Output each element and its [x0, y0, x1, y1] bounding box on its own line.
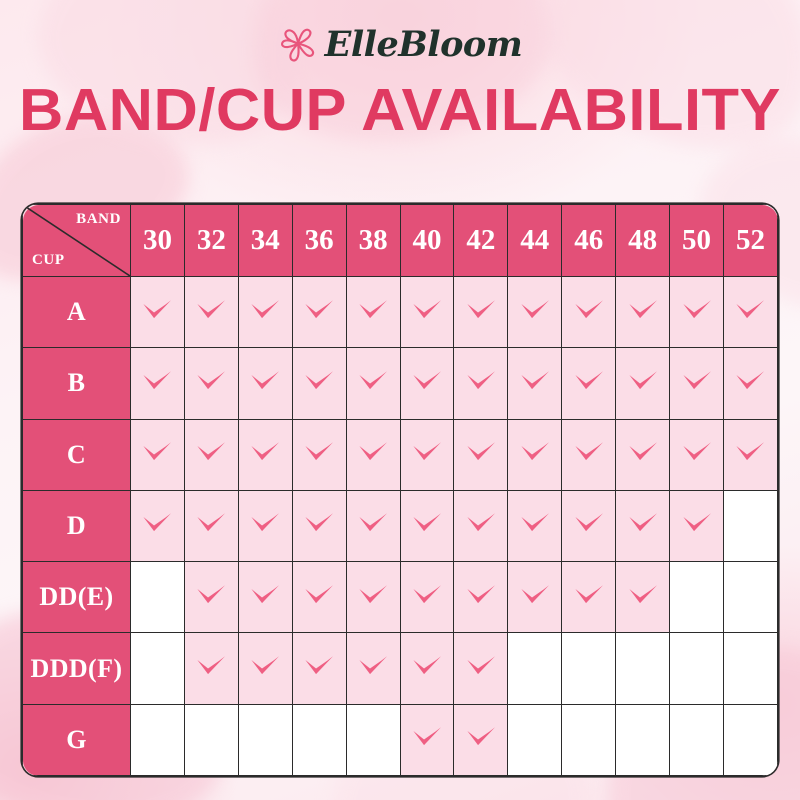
band-size-header-38: 38	[346, 205, 400, 277]
check-icon	[248, 578, 282, 612]
header-row: BAND CUP 303234363840424446485052	[23, 205, 778, 277]
availability-cell-A-42[interactable]	[454, 277, 508, 348]
availability-cell-C-52[interactable]	[723, 419, 777, 490]
check-icon	[680, 364, 714, 398]
availability-cell-D-36[interactable]	[292, 490, 346, 561]
flower-icon	[278, 24, 318, 64]
band-size-header-48: 48	[616, 205, 670, 277]
check-icon	[356, 364, 390, 398]
availability-cell-B-30[interactable]	[131, 348, 185, 419]
check-icon	[518, 435, 552, 469]
availability-table-container: BAND CUP 303234363840424446485052 ABCDDD…	[22, 204, 778, 776]
availability-cell-D-40[interactable]	[400, 490, 454, 561]
availability-cell-B-48[interactable]	[616, 348, 670, 419]
check-icon	[302, 649, 336, 683]
check-icon	[248, 364, 282, 398]
check-icon	[518, 578, 552, 612]
check-icon	[572, 578, 606, 612]
availability-cell-DD(E)-46[interactable]	[562, 562, 616, 633]
check-icon	[194, 293, 228, 327]
availability-cell-DDD(F)-34[interactable]	[238, 633, 292, 704]
availability-cell-A-34[interactable]	[238, 277, 292, 348]
availability-cell-G-30[interactable]	[131, 704, 185, 775]
check-icon	[680, 435, 714, 469]
check-icon	[140, 435, 174, 469]
availability-cell-DDD(F)-38[interactable]	[346, 633, 400, 704]
availability-cell-G-38[interactable]	[346, 704, 400, 775]
check-icon	[680, 506, 714, 540]
availability-cell-D-42[interactable]	[454, 490, 508, 561]
check-icon	[140, 364, 174, 398]
availability-cell-D-52[interactable]	[723, 490, 777, 561]
check-icon	[248, 506, 282, 540]
table-header: BAND CUP 303234363840424446485052	[23, 205, 778, 277]
availability-cell-A-50[interactable]	[670, 277, 724, 348]
availability-cell-DDD(F)-36[interactable]	[292, 633, 346, 704]
check-icon	[302, 364, 336, 398]
band-size-header-42: 42	[454, 205, 508, 277]
availability-cell-B-42[interactable]	[454, 348, 508, 419]
availability-cell-DDD(F)-46[interactable]	[562, 633, 616, 704]
availability-cell-DD(E)-40[interactable]	[400, 562, 454, 633]
availability-cell-B-34[interactable]	[238, 348, 292, 419]
page-root: ElleBloom BAND/CUP AVAILABILITY BAND CUP…	[0, 0, 800, 800]
check-icon	[572, 506, 606, 540]
check-icon	[733, 364, 767, 398]
check-icon	[356, 506, 390, 540]
availability-cell-DDD(F)-52[interactable]	[723, 633, 777, 704]
availability-cell-DD(E)-42[interactable]	[454, 562, 508, 633]
check-icon	[248, 649, 282, 683]
brand-logo: ElleBloom	[0, 0, 800, 58]
check-icon	[302, 293, 336, 327]
table-row: A	[23, 277, 778, 348]
availability-cell-C-40[interactable]	[400, 419, 454, 490]
availability-cell-A-32[interactable]	[184, 277, 238, 348]
corner-band-label: BAND	[76, 211, 121, 228]
check-icon	[572, 364, 606, 398]
availability-cell-A-40[interactable]	[400, 277, 454, 348]
availability-cell-B-36[interactable]	[292, 348, 346, 419]
availability-cell-G-50[interactable]	[670, 704, 724, 775]
availability-cell-DDD(F)-32[interactable]	[184, 633, 238, 704]
check-icon	[518, 506, 552, 540]
availability-cell-DDD(F)-30[interactable]	[131, 633, 185, 704]
check-icon	[680, 293, 714, 327]
table-row: C	[23, 419, 778, 490]
table-row: G	[23, 704, 778, 775]
availability-cell-DD(E)-32[interactable]	[184, 562, 238, 633]
check-icon	[518, 364, 552, 398]
check-icon	[194, 364, 228, 398]
cup-size-header-A: A	[23, 277, 131, 348]
check-icon	[302, 435, 336, 469]
availability-cell-B-32[interactable]	[184, 348, 238, 419]
check-icon	[356, 649, 390, 683]
check-icon	[464, 720, 498, 754]
check-icon	[248, 435, 282, 469]
availability-cell-C-42[interactable]	[454, 419, 508, 490]
check-icon	[410, 578, 444, 612]
availability-cell-A-44[interactable]	[508, 277, 562, 348]
availability-cell-B-40[interactable]	[400, 348, 454, 419]
availability-cell-A-30[interactable]	[131, 277, 185, 348]
cup-size-header-G: G	[23, 704, 131, 775]
check-icon	[464, 364, 498, 398]
availability-cell-D-32[interactable]	[184, 490, 238, 561]
availability-cell-C-48[interactable]	[616, 419, 670, 490]
corner-header-cell: BAND CUP	[23, 205, 131, 277]
availability-cell-B-44[interactable]	[508, 348, 562, 419]
check-icon	[194, 435, 228, 469]
band-size-header-40: 40	[400, 205, 454, 277]
availability-cell-G-52[interactable]	[723, 704, 777, 775]
availability-cell-DD(E)-52[interactable]	[723, 562, 777, 633]
availability-cell-B-38[interactable]	[346, 348, 400, 419]
check-icon	[626, 506, 660, 540]
check-icon	[464, 293, 498, 327]
check-icon	[302, 506, 336, 540]
availability-cell-DDD(F)-48[interactable]	[616, 633, 670, 704]
availability-cell-DD(E)-44[interactable]	[508, 562, 562, 633]
availability-cell-C-30[interactable]	[131, 419, 185, 490]
availability-cell-G-46[interactable]	[562, 704, 616, 775]
check-icon	[626, 435, 660, 469]
availability-cell-DD(E)-30[interactable]	[131, 562, 185, 633]
check-icon	[410, 720, 444, 754]
availability-cell-D-30[interactable]	[131, 490, 185, 561]
availability-cell-C-32[interactable]	[184, 419, 238, 490]
band-size-header-30: 30	[131, 205, 185, 277]
band-size-header-44: 44	[508, 205, 562, 277]
page-title: BAND/CUP AVAILABILITY	[0, 81, 800, 140]
check-icon	[572, 293, 606, 327]
check-icon	[410, 649, 444, 683]
availability-cell-DD(E)-48[interactable]	[616, 562, 670, 633]
table-body: ABCDDD(E)DDD(F)G	[23, 277, 778, 776]
table-row: B	[23, 348, 778, 419]
check-icon	[464, 435, 498, 469]
availability-cell-C-38[interactable]	[346, 419, 400, 490]
check-icon	[140, 506, 174, 540]
band-size-header-52: 52	[723, 205, 777, 277]
check-icon	[410, 506, 444, 540]
availability-cell-A-48[interactable]	[616, 277, 670, 348]
availability-cell-D-44[interactable]	[508, 490, 562, 561]
check-icon	[356, 578, 390, 612]
check-icon	[733, 293, 767, 327]
availability-cell-G-32[interactable]	[184, 704, 238, 775]
check-icon	[733, 435, 767, 469]
availability-cell-DDD(F)-42[interactable]	[454, 633, 508, 704]
availability-cell-A-38[interactable]	[346, 277, 400, 348]
availability-table: BAND CUP 303234363840424446485052 ABCDDD…	[22, 204, 778, 776]
check-icon	[410, 293, 444, 327]
availability-cell-D-46[interactable]	[562, 490, 616, 561]
check-icon	[626, 293, 660, 327]
availability-cell-DD(E)-50[interactable]	[670, 562, 724, 633]
table-row: DD(E)	[23, 562, 778, 633]
brand-name: ElleBloom	[325, 27, 523, 62]
availability-cell-B-52[interactable]	[723, 348, 777, 419]
corner-cup-label: CUP	[32, 252, 65, 269]
check-icon	[356, 435, 390, 469]
check-icon	[302, 578, 336, 612]
availability-cell-D-34[interactable]	[238, 490, 292, 561]
check-icon	[518, 293, 552, 327]
availability-cell-B-46[interactable]	[562, 348, 616, 419]
check-icon	[464, 578, 498, 612]
availability-cell-DD(E)-34[interactable]	[238, 562, 292, 633]
availability-cell-C-34[interactable]	[238, 419, 292, 490]
check-icon	[194, 578, 228, 612]
availability-cell-C-36[interactable]	[292, 419, 346, 490]
availability-cell-A-36[interactable]	[292, 277, 346, 348]
cup-size-header-DDD(F): DDD(F)	[23, 633, 131, 704]
band-size-header-50: 50	[670, 205, 724, 277]
cup-size-header-B: B	[23, 348, 131, 419]
availability-cell-DD(E)-36[interactable]	[292, 562, 346, 633]
table-row: DDD(F)	[23, 633, 778, 704]
availability-cell-A-52[interactable]	[723, 277, 777, 348]
check-icon	[464, 649, 498, 683]
availability-cell-A-46[interactable]	[562, 277, 616, 348]
band-size-header-32: 32	[184, 205, 238, 277]
availability-cell-G-36[interactable]	[292, 704, 346, 775]
check-icon	[464, 506, 498, 540]
availability-cell-D-38[interactable]	[346, 490, 400, 561]
availability-cell-G-44[interactable]	[508, 704, 562, 775]
cup-size-header-DD(E): DD(E)	[23, 562, 131, 633]
check-icon	[410, 364, 444, 398]
band-size-header-36: 36	[292, 205, 346, 277]
check-icon	[626, 578, 660, 612]
table-row: D	[23, 490, 778, 561]
check-icon	[248, 293, 282, 327]
check-icon	[410, 435, 444, 469]
availability-cell-DDD(F)-40[interactable]	[400, 633, 454, 704]
availability-cell-D-48[interactable]	[616, 490, 670, 561]
availability-cell-C-44[interactable]	[508, 419, 562, 490]
availability-cell-G-40[interactable]	[400, 704, 454, 775]
availability-cell-G-42[interactable]	[454, 704, 508, 775]
cup-size-header-C: C	[23, 419, 131, 490]
check-icon	[194, 506, 228, 540]
cup-size-header-D: D	[23, 490, 131, 561]
band-size-header-34: 34	[238, 205, 292, 277]
band-size-header-46: 46	[562, 205, 616, 277]
availability-cell-G-48[interactable]	[616, 704, 670, 775]
availability-cell-DDD(F)-50[interactable]	[670, 633, 724, 704]
check-icon	[194, 649, 228, 683]
check-icon	[140, 293, 174, 327]
availability-cell-D-50[interactable]	[670, 490, 724, 561]
check-icon	[626, 364, 660, 398]
availability-cell-C-50[interactable]	[670, 419, 724, 490]
availability-cell-G-34[interactable]	[238, 704, 292, 775]
availability-cell-DDD(F)-44[interactable]	[508, 633, 562, 704]
check-icon	[572, 435, 606, 469]
availability-cell-DD(E)-38[interactable]	[346, 562, 400, 633]
check-icon	[356, 293, 390, 327]
availability-cell-B-50[interactable]	[670, 348, 724, 419]
availability-cell-C-46[interactable]	[562, 419, 616, 490]
